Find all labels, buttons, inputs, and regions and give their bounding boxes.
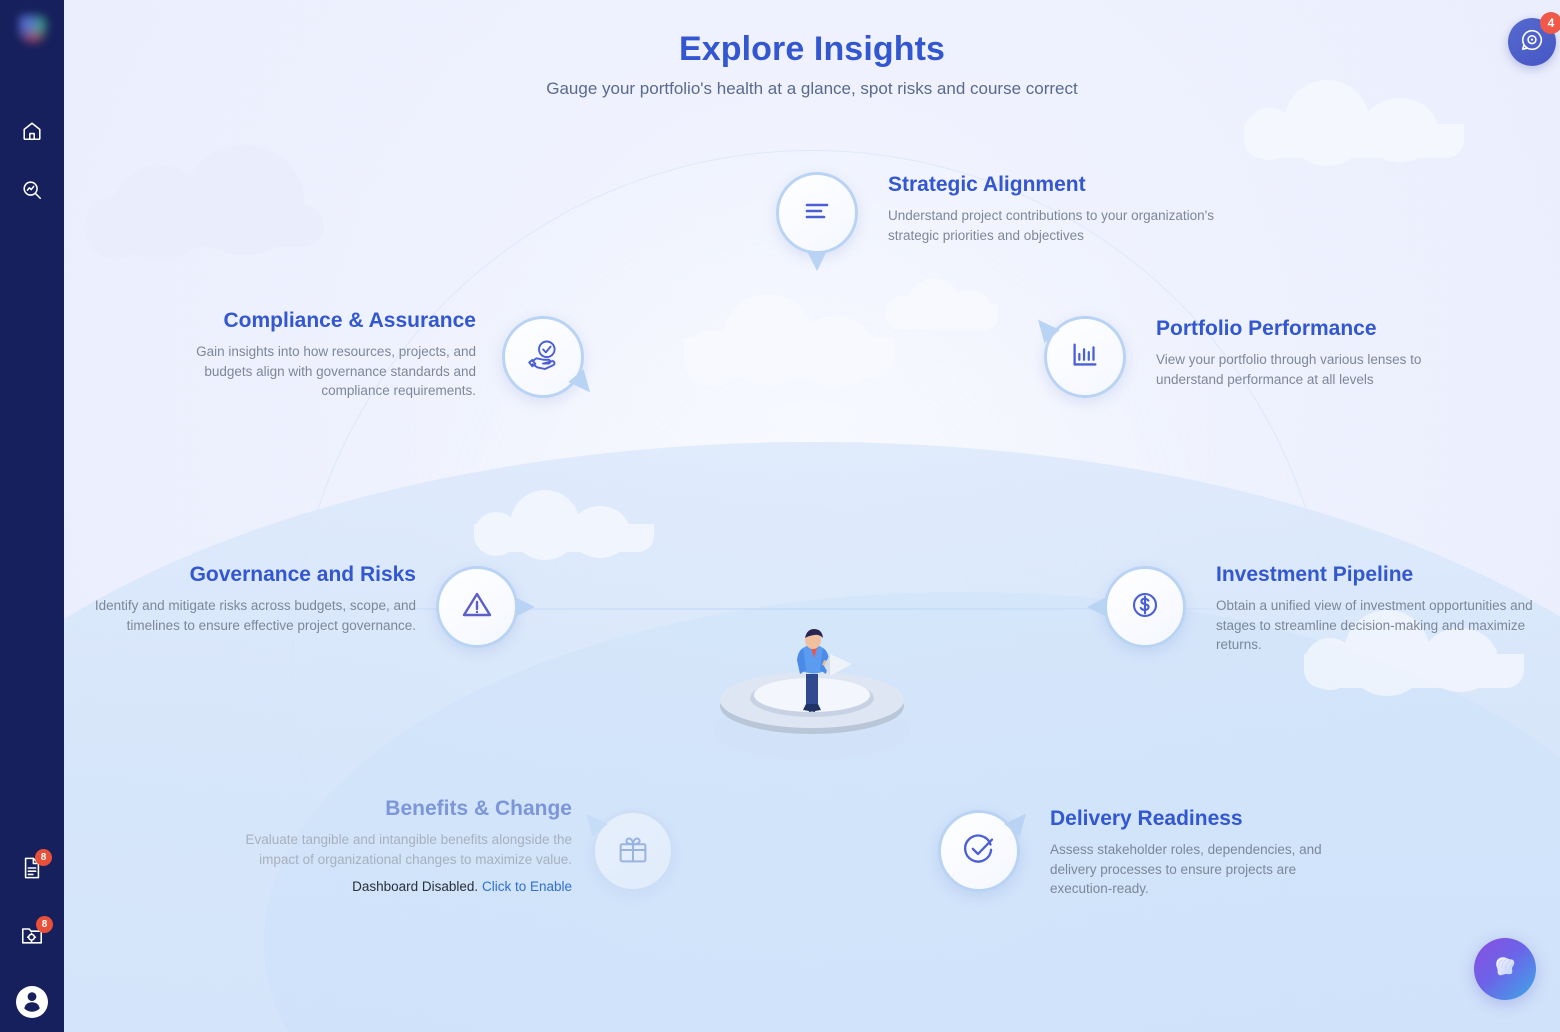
- support-chat-badge: 4: [1540, 12, 1560, 34]
- copilot-icon: [1488, 950, 1522, 989]
- dashboard-status: Dashboard Disabled. Click to Enable: [242, 879, 572, 894]
- insights-canvas: Explore Insights Gauge your portfolio's …: [64, 0, 1560, 1032]
- home-icon: [21, 120, 43, 142]
- warning-triangle-icon: [458, 586, 496, 629]
- sidebar-item-insights[interactable]: [0, 167, 64, 213]
- page-root: 8 8: [0, 0, 1560, 1032]
- align-lines-icon: [799, 193, 835, 234]
- node-description: Obtain a unified view of investment oppo…: [1216, 596, 1536, 655]
- node-description: Assess stakeholder roles, dependencies, …: [1050, 840, 1360, 899]
- bar-chart-icon: [1068, 338, 1102, 377]
- support-chat-button[interactable]: 4: [1508, 18, 1556, 66]
- bubble-tail: [1087, 597, 1107, 617]
- node-description: Understand project contributions to your…: [888, 206, 1228, 245]
- gift-icon: [614, 830, 652, 873]
- bubble-tail: [807, 251, 827, 271]
- page-header: Explore Insights Gauge your portfolio's …: [64, 30, 1560, 99]
- portfolio-performance-bubble[interactable]: [1044, 316, 1126, 398]
- node-title[interactable]: Portfolio Performance: [1156, 316, 1456, 342]
- admin-badge: 8: [36, 916, 53, 933]
- sidebar-item-reports[interactable]: 8: [0, 845, 64, 891]
- document-icon: 8: [21, 856, 43, 880]
- page-title: Explore Insights: [64, 30, 1560, 69]
- node-title[interactable]: Investment Pipeline: [1216, 562, 1536, 588]
- check-circle-icon: [959, 829, 999, 874]
- left-nav-rail: 8 8: [0, 0, 64, 1032]
- click-to-enable-link[interactable]: Click to Enable: [482, 879, 572, 894]
- user-avatar-icon: [19, 987, 45, 1018]
- cloud-center: [684, 290, 904, 376]
- cloud-left-top: [84, 145, 344, 245]
- copilot-button[interactable]: [1474, 938, 1536, 1000]
- insights-search-icon: [21, 179, 43, 201]
- folder-settings-icon: 8: [20, 923, 44, 947]
- governance-risks-bubble[interactable]: [436, 566, 518, 648]
- node-description: Evaluate tangible and intangible benefit…: [242, 830, 572, 869]
- dollar-circle-icon: [1127, 587, 1163, 628]
- app-logo[interactable]: [18, 14, 48, 44]
- sidebar-item-admin[interactable]: 8: [0, 912, 64, 958]
- sidebar-item-account[interactable]: [16, 986, 48, 1018]
- compliance-assurance-bubble[interactable]: [502, 316, 584, 398]
- node-title[interactable]: Benefits & Change: [242, 796, 572, 822]
- benefits-change-bubble[interactable]: [592, 810, 674, 892]
- investment-pipeline-bubble[interactable]: [1104, 566, 1186, 648]
- node-description: Gain insights into how resources, projec…: [146, 342, 476, 401]
- node-description: View your portfolio through various lens…: [1156, 350, 1456, 389]
- node-description: Identify and mitigate risks across budge…: [86, 596, 416, 635]
- bubble-tail: [515, 597, 535, 617]
- cloud-left-mid: [474, 490, 664, 552]
- delivery-readiness-bubble[interactable]: [938, 810, 1020, 892]
- node-title[interactable]: Governance and Risks: [86, 562, 416, 588]
- cloud-small-center: [886, 278, 1006, 330]
- node-title[interactable]: Compliance & Assurance: [146, 308, 476, 334]
- sidebar-item-home[interactable]: [0, 108, 64, 154]
- hand-check-icon: [524, 336, 562, 379]
- reports-badge: 8: [35, 849, 52, 866]
- support-chat-icon: [1519, 27, 1545, 58]
- dashboard-disabled-label: Dashboard Disabled.: [352, 879, 478, 894]
- page-subtitle: Gauge your portfolio's health at a glanc…: [64, 79, 1560, 99]
- center-illustration: [702, 582, 922, 767]
- strategic-alignment-bubble[interactable]: [776, 172, 858, 254]
- node-title[interactable]: Delivery Readiness: [1050, 806, 1360, 832]
- node-title[interactable]: Strategic Alignment: [888, 172, 1228, 198]
